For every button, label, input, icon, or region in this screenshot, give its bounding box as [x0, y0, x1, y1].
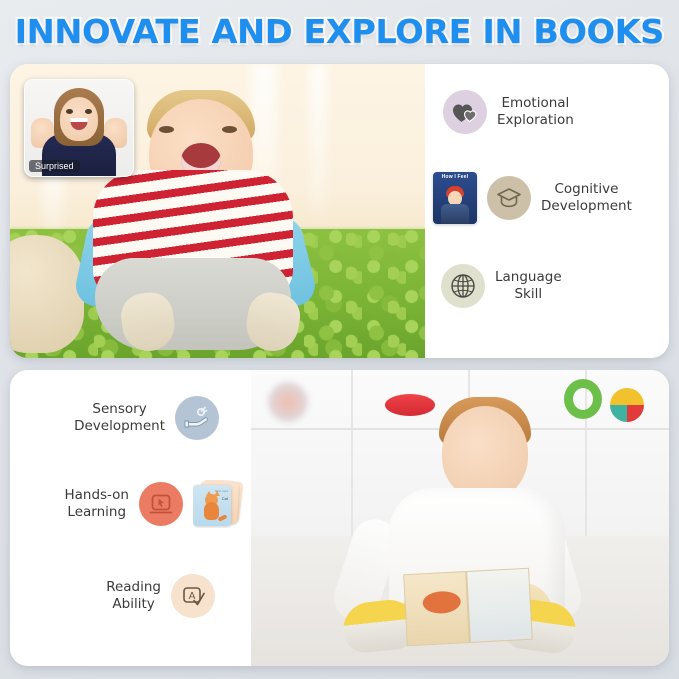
book-page-left [404, 571, 471, 646]
photo-baby-laughing: Surprised [10, 64, 425, 358]
cat-flashcard-thumbnail: flash card Cat [193, 480, 243, 528]
inset-photo-surprised: Surprised [24, 79, 134, 177]
feature-panel-top: Surprised Emotional Exploration How I Fe… [10, 64, 669, 358]
baby-eye-right [222, 126, 237, 133]
inset-caption-label: Surprised [29, 160, 80, 172]
feature-label: Cognitive Development [541, 181, 632, 215]
girl-eyes [66, 109, 92, 114]
feature-language-skill[interactable]: Language Skill [441, 264, 562, 308]
header-bar: INNOVATE AND EXPLORE IN BOOKS [0, 0, 679, 62]
cat-tail [218, 514, 228, 521]
flashcard-subtext: flash card [215, 489, 228, 493]
graduation-cap-icon [487, 176, 531, 220]
green-number-toy [564, 379, 602, 419]
open-board-book [404, 568, 534, 646]
feature-sensory-development[interactable]: Sensory Development [74, 396, 219, 440]
feature-emotional-exploration[interactable]: Emotional Exploration [443, 90, 574, 134]
globe-icon [441, 264, 485, 308]
flashcard-front: flash card Cat [193, 485, 231, 526]
photo-toddler-reading [251, 370, 669, 666]
book-page-right [466, 568, 533, 643]
red-toy [385, 394, 435, 416]
thumbnail-caption: How I Feel [433, 174, 477, 180]
feature-reading-ability[interactable]: A Reading Ability [106, 574, 215, 618]
feature-label: Reading Ability [106, 579, 161, 613]
cat-body [204, 502, 219, 520]
feature-cognitive-development[interactable]: How I Feel Cognitive Development [433, 172, 632, 224]
features-list-top: Emotional Exploration How I Feel Cogniti… [425, 64, 669, 358]
feature-label: Emotional Exploration [497, 95, 574, 129]
feature-label: Sensory Development [74, 401, 165, 435]
blurred-toy [268, 382, 308, 422]
light-streak [309, 64, 327, 217]
tap-cursor-icon [139, 482, 183, 526]
letter-a-check-icon: A [171, 574, 215, 618]
hand-touch-icon [175, 396, 219, 440]
book-illustration [422, 590, 461, 614]
features-list-bottom: Sensory Development flash card Cat [10, 370, 251, 666]
character-body [441, 204, 469, 224]
feature-label: Language Skill [495, 269, 562, 303]
flashcard-word: Cat [222, 496, 228, 501]
feature-label: Hands-on Learning [64, 487, 129, 521]
how-i-feel-book-thumbnail: How I Feel [433, 172, 477, 224]
page-title: INNOVATE AND EXPLORE IN BOOKS [15, 12, 664, 51]
shelf-divider [351, 370, 353, 542]
toddler-head [442, 406, 528, 500]
feature-panel-bottom: Sensory Development flash card Cat [10, 370, 669, 666]
feature-hands-on-learning[interactable]: flash card Cat Hands-on Learning [64, 480, 243, 528]
plush-toy [10, 235, 84, 353]
colorful-ball-toy [610, 388, 644, 422]
baby-eye-left [159, 126, 174, 133]
hearts-icon [443, 90, 487, 134]
